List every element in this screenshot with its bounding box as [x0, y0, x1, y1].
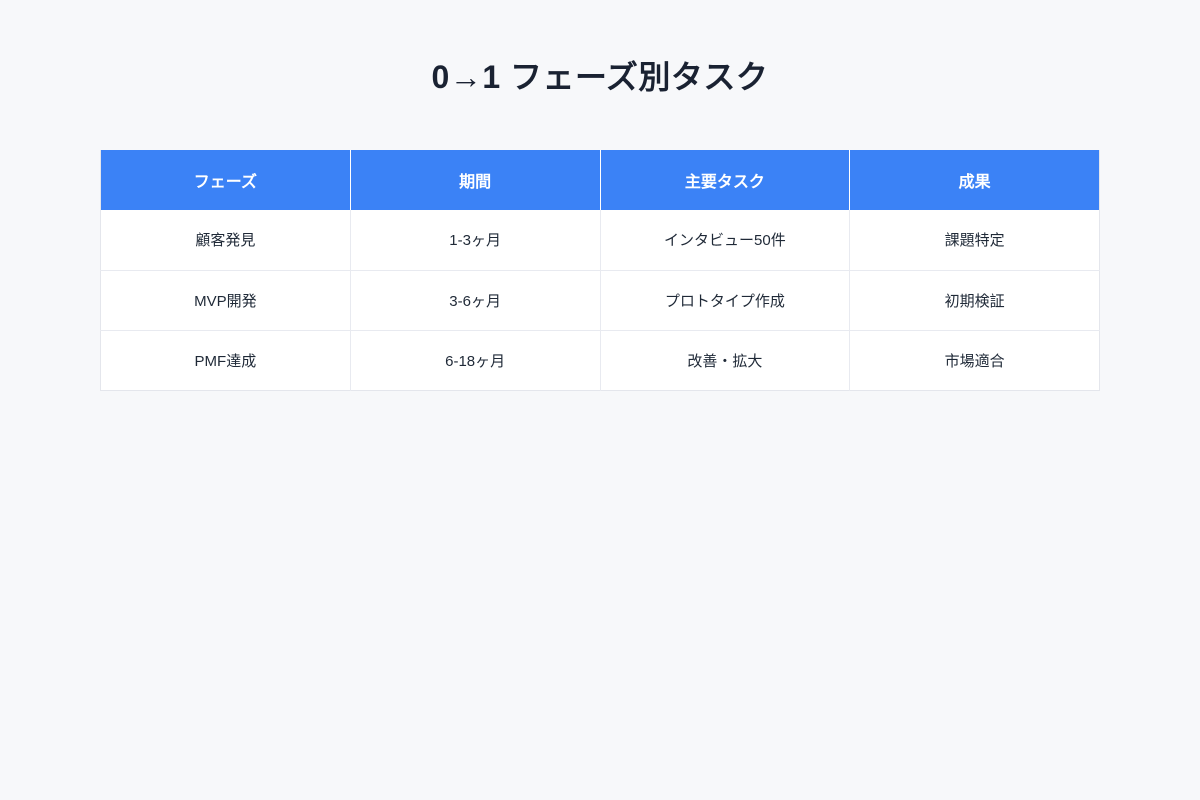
table-header: フェーズ 期間 主要タスク 成果	[101, 150, 1100, 210]
column-header-phase: フェーズ	[101, 150, 351, 210]
page-title: 0→1 フェーズ別タスク	[0, 54, 1200, 100]
table-header-row: フェーズ 期間 主要タスク 成果	[101, 150, 1100, 210]
cell-main-task: インタビュー50件	[600, 210, 850, 270]
cell-duration: 1-3ヶ月	[350, 210, 600, 270]
table-row: 顧客発見 1-3ヶ月 インタビュー50件 課題特定	[101, 210, 1100, 270]
page-root: 0→1 フェーズ別タスク フェーズ 期間 主要タスク 成果 顧客発見 1-3ヶ月…	[0, 0, 1200, 800]
cell-phase: 顧客発見	[101, 210, 351, 270]
cell-duration: 3-6ヶ月	[350, 270, 600, 330]
cell-outcome: 市場適合	[850, 330, 1100, 390]
cell-phase: PMF達成	[101, 330, 351, 390]
phase-task-table: フェーズ 期間 主要タスク 成果 顧客発見 1-3ヶ月 インタビュー50件 課題…	[100, 150, 1100, 391]
cell-outcome: 課題特定	[850, 210, 1100, 270]
column-header-main-task: 主要タスク	[600, 150, 850, 210]
phase-table-container: フェーズ 期間 主要タスク 成果 顧客発見 1-3ヶ月 インタビュー50件 課題…	[100, 150, 1100, 391]
cell-main-task: プロトタイプ作成	[600, 270, 850, 330]
table-row: MVP開発 3-6ヶ月 プロトタイプ作成 初期検証	[101, 270, 1100, 330]
column-header-outcome: 成果	[850, 150, 1100, 210]
cell-duration: 6-18ヶ月	[350, 330, 600, 390]
column-header-duration: 期間	[350, 150, 600, 210]
cell-main-task: 改善・拡大	[600, 330, 850, 390]
table-body: 顧客発見 1-3ヶ月 インタビュー50件 課題特定 MVP開発 3-6ヶ月 プロ…	[101, 210, 1100, 390]
cell-phase: MVP開発	[101, 270, 351, 330]
table-row: PMF達成 6-18ヶ月 改善・拡大 市場適合	[101, 330, 1100, 390]
cell-outcome: 初期検証	[850, 270, 1100, 330]
